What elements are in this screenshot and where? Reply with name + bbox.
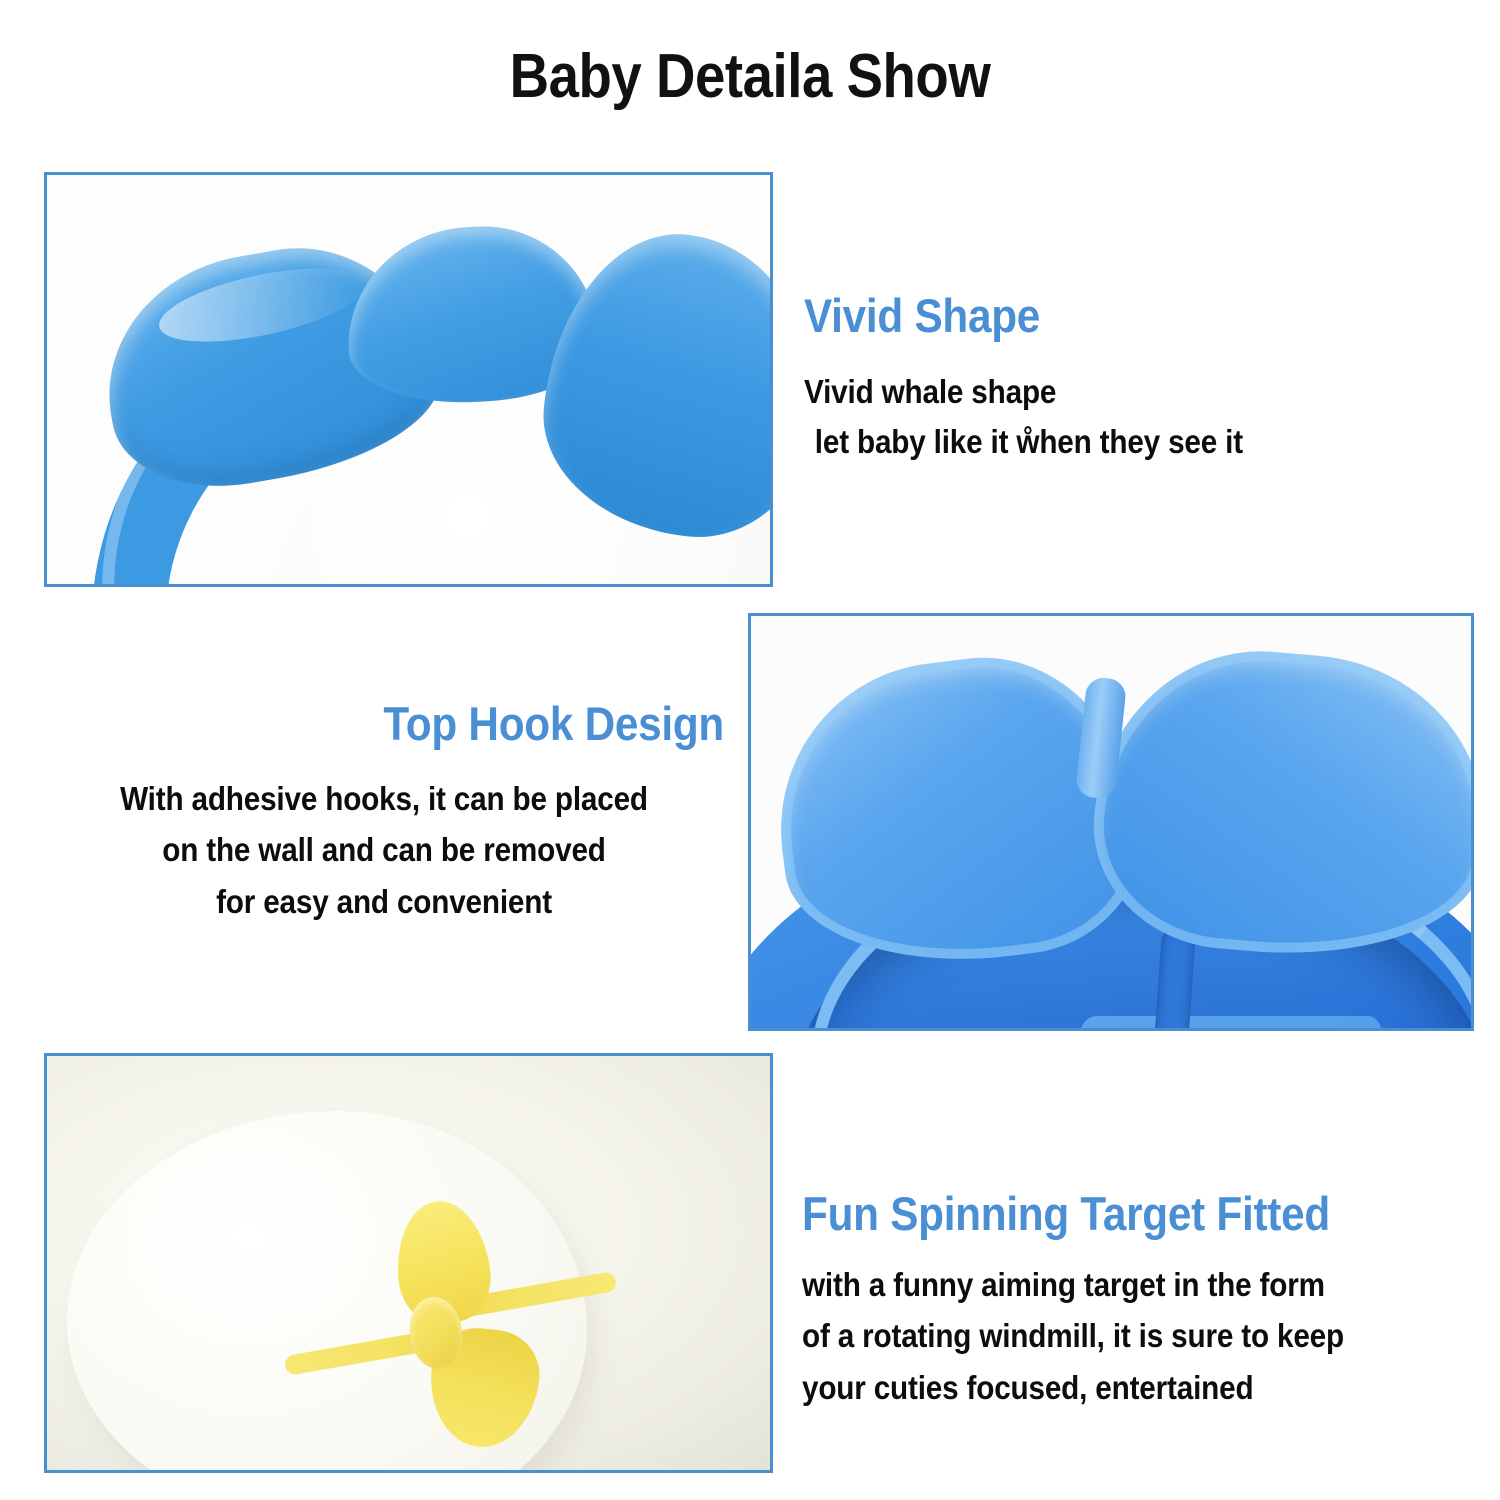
page-title: Baby Detaila Show [90,44,1410,109]
feature-text-top-hook-design: Top Hook Design With adhesive hooks, it … [44,700,724,927]
windmill-target-photo [47,1056,770,1470]
feature-photo-fun-spinning-target [44,1053,773,1473]
feature-body-line: With adhesive hooks, it can be placed [78,773,690,824]
feature-body-top-hook-design: With adhesive hooks, it can be placed on… [44,773,724,927]
feature-body-line: let baby like it ẘhen they see it [804,417,1398,467]
feature-text-fun-spinning-target: Fun Spinning Target Fitted with a funny … [802,1190,1492,1413]
feature-photo-top-hook-design [748,613,1474,1031]
feature-heading-fun-spinning-target: Fun Spinning Target Fitted [802,1190,1423,1237]
feature-body-fun-spinning-target: with a funny aiming target in the form o… [802,1259,1492,1413]
windmill-target [302,1201,602,1461]
whale-tail-photo [47,175,770,584]
feature-body-line: on the wall and can be removed [78,824,690,875]
hook-mount-block [1081,1016,1381,1028]
feature-body-line: for easy and convenient [78,876,690,927]
top-hook-photo [751,616,1471,1028]
feature-body-line: with a funny aiming target in the form [802,1259,1423,1310]
feature-body-line: your cuties focused, entertained [802,1362,1423,1413]
feature-body-line: of a rotating windmill, it is sure to ke… [802,1310,1423,1361]
feature-body-line: Vivid whale shape [804,367,1398,417]
feature-heading-top-hook-design: Top Hook Design [112,700,724,747]
feature-photo-vivid-shape [44,172,773,587]
feature-heading-vivid-shape: Vivid Shape [804,292,1398,339]
feature-text-vivid-shape: Vivid Shape Vivid whale shape let baby l… [804,292,1464,467]
feature-body-vivid-shape: Vivid whale shape let baby like it ẘhen … [804,367,1464,467]
